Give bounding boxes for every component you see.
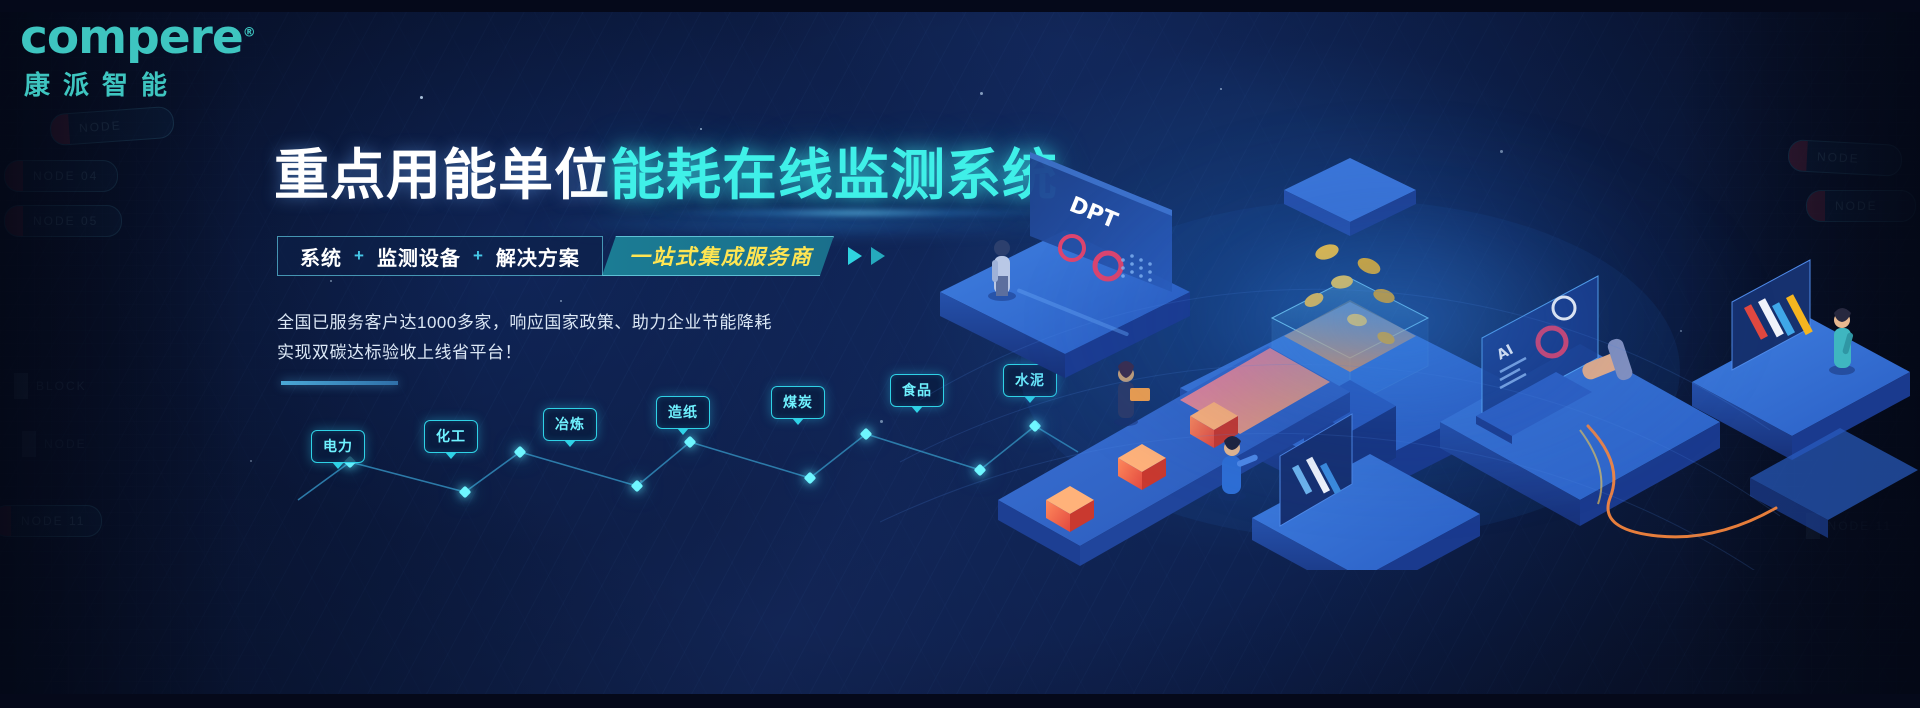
brand-wordmark: compere® bbox=[20, 14, 256, 61]
industry-tag-label: 化工 bbox=[436, 428, 466, 444]
particle bbox=[250, 460, 252, 462]
illustration-glow bbox=[1030, 110, 1770, 530]
feature-list: 系统 + 监测设备 + 解决方案 bbox=[277, 236, 603, 276]
highlight-badge[interactable]: 一站式集成服务商 bbox=[602, 236, 834, 276]
plus-icon: + bbox=[354, 246, 365, 266]
top-letterbox-bar bbox=[0, 0, 1920, 12]
particle bbox=[420, 96, 423, 99]
industry-tag-huagong[interactable]: 化工 bbox=[424, 420, 478, 453]
industry-tag-yelian[interactable]: 冶炼 bbox=[543, 408, 597, 441]
industry-tag-meitan[interactable]: 煤炭 bbox=[771, 386, 825, 419]
industry-tag-label: 电力 bbox=[323, 438, 353, 454]
description-line-1: 全国已服务客户达1000多家，响应国家政策、助力企业节能降耗 bbox=[277, 308, 772, 338]
hero-banner: NODE NODE 04 NODE 05 NODE 11 BLOCK NODE … bbox=[0, 0, 1920, 708]
bottom-letterbox-bar bbox=[0, 694, 1920, 708]
brand-logo[interactable]: compere® 康派智能 bbox=[20, 14, 256, 102]
industry-tag-dianli[interactable]: 电力 bbox=[311, 430, 365, 463]
industry-tag-label: 煤炭 bbox=[783, 394, 813, 410]
isometric-illustration: DPT bbox=[880, 70, 1920, 570]
particle bbox=[560, 300, 562, 302]
particle bbox=[700, 128, 702, 130]
feature-item-solution: 解决方案 bbox=[496, 242, 580, 271]
page-title-primary: 重点用能单位 bbox=[274, 143, 610, 207]
industry-tag-label: 造纸 bbox=[668, 404, 698, 420]
feature-pill-bar: 系统 + 监测设备 + 解决方案 一站式集成服务商 bbox=[277, 236, 885, 276]
divider bbox=[281, 381, 398, 385]
highlight-badge-label: 一站式集成服务商 bbox=[629, 241, 813, 271]
description-line-2: 实现双碳达标验收上线省平台！ bbox=[277, 338, 772, 368]
registered-mark-icon: ® bbox=[243, 25, 256, 40]
industry-tag-zaozhi[interactable]: 造纸 bbox=[656, 396, 710, 429]
description-block: 全国已服务客户达1000多家，响应国家政策、助力企业节能降耗 实现双碳达标验收上… bbox=[277, 308, 772, 368]
brand-wordmark-text: compere bbox=[20, 10, 243, 65]
brand-chinese-name: 康派智能 bbox=[20, 65, 256, 102]
feature-item-system: 系统 bbox=[300, 242, 342, 271]
play-arrow-icon bbox=[848, 247, 862, 265]
plus-icon: + bbox=[473, 246, 484, 266]
particle bbox=[330, 280, 332, 282]
feature-item-devices: 监测设备 bbox=[377, 242, 461, 271]
industry-tag-label: 冶炼 bbox=[555, 416, 585, 432]
